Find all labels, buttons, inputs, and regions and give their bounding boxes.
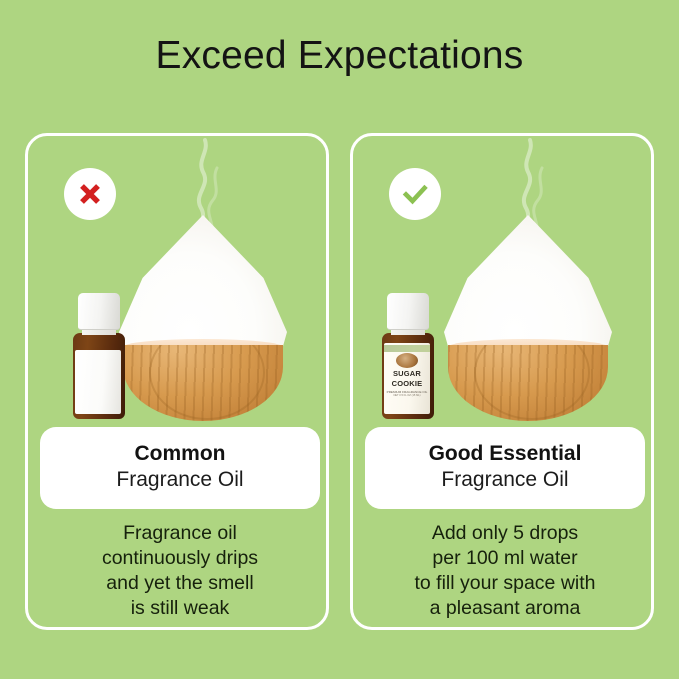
check-icon bbox=[399, 178, 431, 210]
description-line: continuously drips bbox=[38, 546, 322, 571]
label-net-contents: NET 0.5 FL OZ (15 ML) bbox=[393, 394, 420, 397]
diffuser-wood-base bbox=[448, 345, 608, 421]
cross-icon bbox=[75, 179, 105, 209]
oil-bottle-plain-icon bbox=[72, 293, 126, 419]
comparison-card-common: Common Fragrance Oil Fragrance oil conti… bbox=[25, 133, 329, 630]
product-type: Fragrance Oil bbox=[46, 467, 314, 493]
description-line: to fill your space with bbox=[363, 571, 647, 596]
label-scent-name-line-1: SUGAR bbox=[393, 370, 421, 378]
product-name: Good Essential bbox=[371, 441, 639, 466]
product-description: Add only 5 drops per 100 ml water to fil… bbox=[363, 521, 647, 621]
description-line: a pleasant aroma bbox=[363, 596, 647, 621]
bottle-label-blank bbox=[75, 350, 121, 414]
status-badge-positive bbox=[389, 168, 441, 220]
cookie-illustration-icon bbox=[396, 353, 418, 368]
page-title: Exceed Expectations bbox=[0, 34, 679, 78]
status-badge-negative bbox=[64, 168, 116, 220]
aroma-diffuser-icon bbox=[119, 221, 287, 421]
product-type: Fragrance Oil bbox=[371, 467, 639, 493]
label-top-band bbox=[384, 345, 430, 352]
product-description: Fragrance oil continuously drips and yet… bbox=[38, 521, 322, 621]
description-line: per 100 ml water bbox=[363, 546, 647, 571]
diffuser-wood-base bbox=[123, 345, 283, 421]
aroma-diffuser-icon bbox=[444, 221, 612, 421]
bottle-cap bbox=[78, 293, 120, 330]
product-name: Common bbox=[46, 441, 314, 466]
label-subtitle: PREMIUM FRAGRANCE OIL bbox=[387, 390, 428, 394]
description-line: is still weak bbox=[38, 596, 322, 621]
bottle-label-sugar-cookie: SUGAR COOKIE PREMIUM FRAGRANCE OIL NET 0… bbox=[384, 343, 430, 414]
description-line: Add only 5 drops bbox=[363, 521, 647, 546]
product-name-plate: Common Fragrance Oil bbox=[40, 427, 320, 509]
product-name-plate: Good Essential Fragrance Oil bbox=[365, 427, 645, 509]
comparison-card-good-essential: SUGAR COOKIE PREMIUM FRAGRANCE OIL NET 0… bbox=[350, 133, 654, 630]
oil-bottle-branded-icon: SUGAR COOKIE PREMIUM FRAGRANCE OIL NET 0… bbox=[381, 293, 435, 419]
description-line: and yet the smell bbox=[38, 571, 322, 596]
description-line: Fragrance oil bbox=[38, 521, 322, 546]
bottle-cap bbox=[387, 293, 429, 330]
label-scent-name-line-2: COOKIE bbox=[392, 380, 423, 388]
comparison-cards: Common Fragrance Oil Fragrance oil conti… bbox=[25, 133, 654, 630]
